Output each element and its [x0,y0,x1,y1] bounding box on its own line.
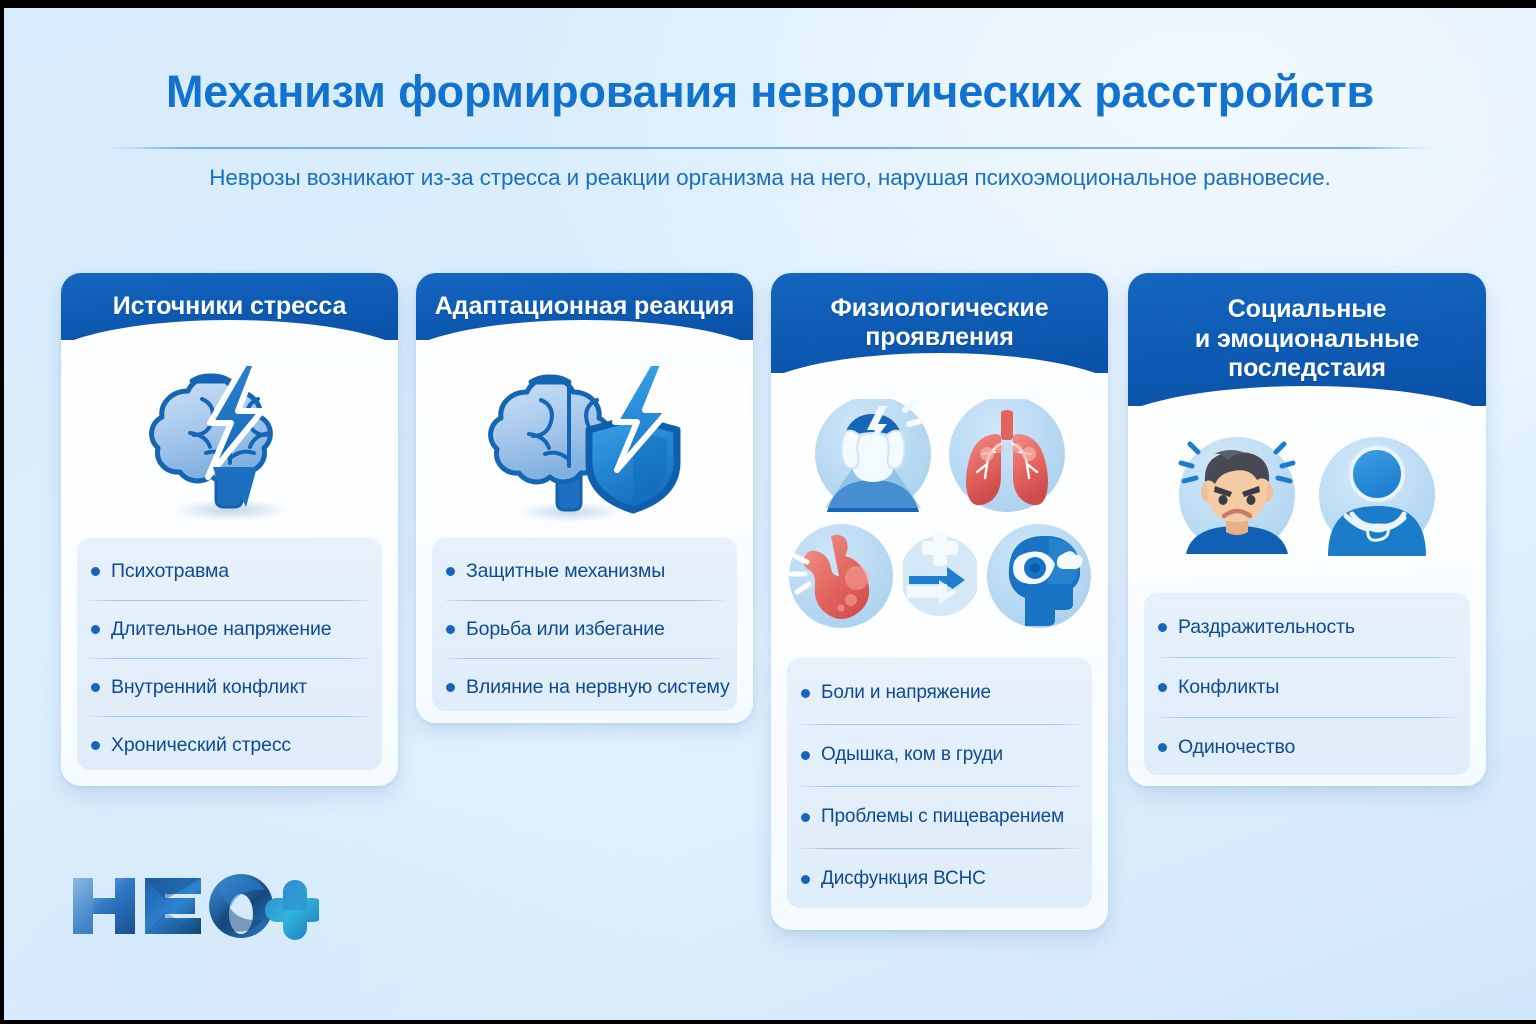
bullet-icon [446,567,455,576]
list-item-label: Одиночество [1178,736,1295,759]
bullet-icon [801,689,810,698]
list-item-label: Боли и напряжение [821,682,991,704]
card-header-physiological-manifestations: Физиологические проявления [771,273,1108,373]
list-item[interactable]: Проблемы с пищеварением [787,786,1092,848]
card-title-line: Социальные [1228,295,1387,323]
bullet-icon [91,683,100,692]
list-item[interactable]: Конфликты [1144,657,1470,717]
bullet-icon [446,625,455,634]
bullet-icon [801,875,810,884]
card-sources-of-stress[interactable]: Источники стресса [61,273,398,786]
card-title: Социальные и эмоциональные последстаия [1195,295,1419,384]
list-item[interactable]: Борьба или избегание [432,600,737,658]
card-title-line: проявления [865,323,1013,351]
list-item[interactable]: Хронический стресс [77,716,382,774]
icon-row-lower [785,520,1095,632]
bullet-icon [801,813,810,822]
card-icon-area [1128,420,1486,570]
list-item-label: Психотравма [111,560,229,583]
card-icon-area [61,352,398,532]
arrows-connector-icon [903,520,977,632]
card-physiological-manifestations[interactable]: Физиологические проявления [771,273,1108,930]
list-item[interactable]: Внутренний конфликт [77,658,382,716]
list-item-label: Защитные механизмы [466,560,665,583]
angry-face-icon [1172,430,1302,560]
header-curve [1128,386,1486,432]
title-divider [108,147,1432,149]
icon-row [1172,430,1442,560]
list-item[interactable]: Одышка, ком в груди [787,724,1092,786]
lungs-icon [943,390,1071,518]
card-icon-area [416,350,753,532]
card-list-physiological-manifestations: Боли и напряжение Одышка, ком в груди Пр… [787,658,1092,908]
list-item-label: Влияние на нервную систему [466,676,730,699]
card-title: Источники стресса [113,292,347,322]
list-item[interactable]: Влияние на нервную систему [432,658,737,716]
card-title: Физиологические проявления [830,294,1048,353]
list-item-label: Внутренний конфликт [111,676,307,699]
bullet-icon [1158,623,1167,632]
bullet-icon [1158,683,1167,692]
card-header-adaptive-reaction: Адаптационная реакция [416,273,753,340]
list-item-label: Хронический стресс [111,734,291,757]
card-title-line: Физиологические [830,294,1048,322]
list-item[interactable]: Дисфункция ВСНС [787,848,1092,910]
list-item-label: Раздражительность [1178,616,1355,639]
list-item-label: Дисфункция ВСНС [821,868,986,890]
bullet-icon [91,741,100,750]
list-item[interactable]: Защитные механизмы [432,542,737,600]
list-item-label: Конфликты [1178,676,1279,699]
bullet-icon [801,751,810,760]
card-list-social-emotional-consequences: Раздражительность Конфликты Одиночество [1144,593,1470,775]
card-adaptive-reaction[interactable]: Адаптационная реакция [416,273,753,723]
list-item[interactable]: Длительное напряжение [77,600,382,658]
header-curve [771,353,1108,399]
card-title-line: и эмоциональные [1195,325,1419,353]
list-item[interactable]: Раздражительность [1144,597,1470,657]
anxious-person-icon [1312,430,1442,560]
brain-lightning-icon [130,355,330,530]
bullet-icon [91,567,100,576]
list-item-label: Борьба или избегание [466,618,665,641]
card-header-social-emotional-consequences: Социальные и эмоциональные последстаия [1128,273,1486,406]
neo-plus-logo[interactable] [69,870,319,942]
brain-shield-lightning-icon [465,352,705,530]
stomach-icon [785,520,897,632]
card-title: Адаптационная реакция [435,292,735,322]
list-item-label: Длительное напряжение [111,618,331,641]
header-curve [61,320,398,366]
list-item[interactable]: Одиночество [1144,717,1470,777]
bullet-icon [446,683,455,692]
head-eye-icon [983,520,1095,632]
card-header-sources-of-stress: Источники стресса [61,273,398,340]
card-list-adaptive-reaction: Защитные механизмы Борьба или избегание … [432,538,737,711]
card-title-line: последстаия [1228,354,1386,382]
icon-row-upper [809,390,1071,518]
head-clutching-icon [809,390,937,518]
card-icon-area [771,381,1108,641]
page-title: Механизм формирования невротических расс… [4,66,1536,118]
card-social-emotional-consequences[interactable]: Социальные и эмоциональные последстаия [1128,273,1486,786]
list-item-label: Проблемы с пищеварением [821,806,1064,828]
list-item-label: Одышка, ком в груди [821,744,1003,766]
infographic-canvas: Механизм формирования невротических расс… [4,8,1536,1020]
bullet-icon [91,625,100,634]
page-subtitle: Неврозы возникают из-за стресса и реакци… [4,165,1536,191]
list-item[interactable]: Психотравма [77,542,382,600]
header-curve [416,320,753,366]
bullet-icon [1158,743,1167,752]
card-list-sources-of-stress: Психотравма Длительное напряжение Внутре… [77,538,382,770]
list-item[interactable]: Боли и напряжение [787,662,1092,724]
